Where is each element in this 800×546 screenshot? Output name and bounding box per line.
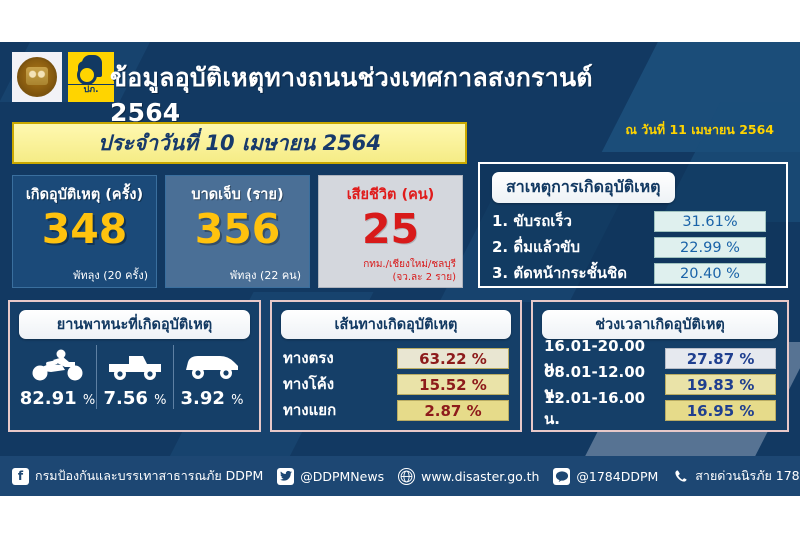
list-item: 82.91 % <box>19 345 96 409</box>
time-name: 12.01-16.00 น. <box>544 389 665 431</box>
footer-label: กรมป้องกันและบรรเทาสาธารณภัย DDPM <box>35 466 263 486</box>
stat-card-deaths: เสียชีวิต (คน) 25 กทม./เชียงใหม่/ชลบุรี … <box>318 175 463 288</box>
road-name: ทางโค้ง <box>283 372 334 396</box>
phone-icon <box>672 468 689 485</box>
footer-label: www.disaster.go.th <box>421 469 539 484</box>
road-name: ทางตรง <box>283 346 334 370</box>
detail-panels: ยานพาหนะที่เกิดอุบัติเหตุ 82.91 <box>8 300 789 432</box>
footer-website[interactable]: www.disaster.go.th <box>398 468 539 485</box>
vehicle-percent: 82.91 % <box>19 388 96 409</box>
report-date-banner: ประจำวันที่ 10 เมษายน 2564 <box>12 122 467 164</box>
stat-card-injured: บาดเจ็บ (ราย) 356 พัทลุง (22 คน) <box>165 175 310 288</box>
stat-value: 25 <box>319 206 462 252</box>
footer-facebook[interactable]: f กรมป้องกันและบรรเทาสาธารณภัย DDPM <box>12 466 263 486</box>
cause-value: 22.99 % <box>654 237 766 258</box>
vehicle-percent: 7.56 % <box>97 388 173 409</box>
stat-sub-line2: (จว.ละ 2 ราย) <box>363 271 456 284</box>
causes-panel: สาเหตุการเกิดอุบัติเหตุ 1. ขับรถเร็ว 31.… <box>478 162 788 288</box>
road-name: ทางแยก <box>283 398 336 422</box>
footer-bar: f กรมป้องกันและบรรเทาสาธารณภัย DDPM @DDP… <box>0 456 800 496</box>
stat-sub: พัทลุง (20 ครั้ง) <box>73 269 148 282</box>
stat-sub: พัทลุง (22 คน) <box>230 269 301 282</box>
vehicle-value: 7.56 <box>103 388 147 409</box>
time-range-panel: ช่วงเวลาเกิดอุบัติเหตุ 16.01-20.00 น. 27… <box>531 300 789 432</box>
road-type-list: ทางตรง 63.22 % ทางโค้ง 15.52 % ทางแยก 2.… <box>281 345 511 423</box>
road-type-title: เส้นทางเกิดอุบัติเหตุ <box>281 310 511 339</box>
vehicles-list: 82.91 % 7.56 % <box>19 345 250 409</box>
royal-thai-police-seal-icon <box>12 52 62 102</box>
vehicle-unit: % <box>83 393 95 408</box>
road-value: 15.52 % <box>397 374 509 395</box>
footer-hotline[interactable]: สายด่วนนิรภัย 1784 <box>672 466 800 486</box>
logo-group: ปภ. <box>12 52 114 102</box>
infographic-poster: ปภ. ข้อมูลอุบัติเหตุทางถนนช่วงเทศกาลสงกร… <box>0 42 800 496</box>
footer-line[interactable]: @1784DDPM <box>553 468 658 485</box>
vehicle-value: 82.91 <box>20 388 77 409</box>
footer-twitter[interactable]: @DDPMNews <box>277 468 384 485</box>
poster-header: ปภ. ข้อมูลอุบัติเหตุทางถนนช่วงเทศกาลสงกร… <box>0 42 800 114</box>
list-item: ทางตรง 63.22 % <box>281 345 511 371</box>
facebook-icon: f <box>12 468 29 485</box>
list-item: ทางแยก 2.87 % <box>281 397 511 423</box>
time-value: 19.83 % <box>665 374 776 395</box>
causes-title: สาเหตุการเกิดอุบัติเหตุ <box>492 172 675 203</box>
ddpm-logo-label: ปภ. <box>68 84 114 96</box>
list-item: ทางโค้ง 15.52 % <box>281 371 511 397</box>
list-item: 2. ดื่มแล้วขับ 22.99 % <box>492 234 778 260</box>
vehicle-unit: % <box>154 393 166 408</box>
report-date-text: ประจำวันที่ 10 เมษายน 2564 <box>98 127 381 160</box>
footer-label: @DDPMNews <box>300 469 384 484</box>
stat-value: 356 <box>166 206 309 252</box>
ddpm-logo-icon: ปภ. <box>68 52 114 102</box>
stat-sub-line1: กทม./เชียงใหม่/ชลบุรี <box>363 258 456 271</box>
road-value: 63.22 % <box>397 348 509 369</box>
pickup-truck-icon <box>97 345 173 385</box>
twitter-icon <box>277 468 294 485</box>
time-range-list: 16.01-20.00 น. 27.87 % 08.01-12.00 น. 19… <box>542 345 778 423</box>
vehicle-unit: % <box>231 393 243 408</box>
road-type-panel: เส้นทางเกิดอุบัติเหตุ ทางตรง 63.22 % ทาง… <box>270 300 522 432</box>
causes-list: 1. ขับรถเร็ว 31.61% 2. ดื่มแล้วขับ 22.99… <box>492 208 778 286</box>
cause-name: 3. ตัดหน้ากระชั้นชิด <box>492 261 654 285</box>
list-item: 3. ตัดหน้ากระชั้นชิด 20.40 % <box>492 260 778 286</box>
motorcycle-icon <box>19 345 96 385</box>
cause-value: 31.61% <box>654 211 766 232</box>
line-icon <box>553 468 570 485</box>
vehicle-value: 3.92 <box>180 388 224 409</box>
stat-card-accidents: เกิดอุบัติเหตุ (ครั้ง) 348 พัทลุง (20 คร… <box>12 175 157 288</box>
vehicles-panel: ยานพาหนะที่เกิดอุบัติเหตุ 82.91 <box>8 300 261 432</box>
time-value: 27.87 % <box>665 348 776 369</box>
stat-sub: กทม./เชียงใหม่/ชลบุรี (จว.ละ 2 ราย) <box>363 258 456 284</box>
list-item: 12.01-16.00 น. 16.95 % <box>542 397 778 423</box>
car-icon <box>174 345 250 385</box>
stat-label: เกิดอุบัติเหตุ (ครั้ง) <box>13 183 156 206</box>
time-range-title: ช่วงเวลาเกิดอุบัติเหตุ <box>542 310 778 339</box>
list-item: 7.56 % <box>96 345 173 409</box>
page-title: ข้อมูลอุบัติเหตุทางถนนช่วงเทศกาลสงกรานต์… <box>110 58 670 127</box>
stat-value: 348 <box>13 206 156 252</box>
vehicle-percent: 3.92 % <box>174 388 250 409</box>
cause-name: 1. ขับรถเร็ว <box>492 209 654 233</box>
summary-stats: เกิดอุบัติเหตุ (ครั้ง) 348 พัทลุง (20 คร… <box>12 175 463 288</box>
stat-label: เสียชีวิต (คน) <box>319 183 462 206</box>
stat-label: บาดเจ็บ (ราย) <box>166 183 309 206</box>
road-value: 2.87 % <box>397 400 509 421</box>
cause-name: 2. ดื่มแล้วขับ <box>492 235 654 259</box>
globe-icon <box>398 468 415 485</box>
footer-label: @1784DDPM <box>576 469 658 484</box>
list-item: 1. ขับรถเร็ว 31.61% <box>492 208 778 234</box>
cause-value: 20.40 % <box>654 263 766 284</box>
footer-label: สายด่วนนิรภัย 1784 <box>695 466 800 486</box>
time-value: 16.95 % <box>665 400 776 421</box>
vehicles-title: ยานพาหนะที่เกิดอุบัติเหตุ <box>19 310 250 339</box>
as-of-date: ณ วันที่ 11 เมษายน 2564 <box>625 120 774 140</box>
list-item: 3.92 % <box>173 345 250 409</box>
